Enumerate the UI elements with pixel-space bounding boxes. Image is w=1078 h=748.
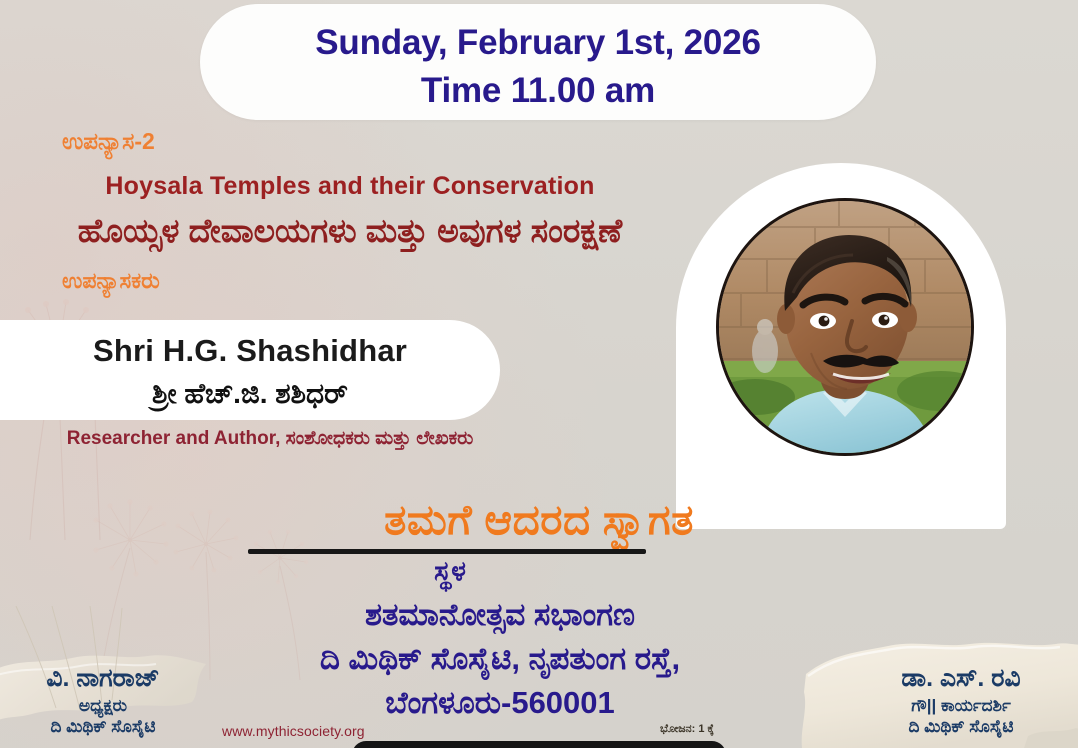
speaker-avatar (716, 198, 974, 456)
bottom-panel-edge (352, 741, 726, 748)
signatory-secretary-name: ಡಾ. ಎಸ್. ರವಿ (856, 664, 1066, 693)
event-time: Time 11.00 am (200, 62, 876, 110)
event-poster: Sunday, February 1st, 2026 Time 11.00 am… (0, 0, 1078, 748)
signatory-president: ವಿ. ನಾಗರಾಜ್ ಅಧ್ಯಕ್ಷರು ದಿ ಮಿಥಿಕ್ ಸೊಸೈಟಿ (0, 664, 206, 737)
signatory-president-role: ಅಧ್ಯಕ್ಷರು (0, 696, 206, 716)
venue-line-1: ಶತಮಾನೋತ್ಸವ ಸಭಾಂಗಣ (0, 597, 1000, 634)
date-time-banner: Sunday, February 1st, 2026 Time 11.00 am (200, 4, 876, 120)
lecture-title-english: Hoysala Temples and their Conservation (0, 172, 700, 201)
lecture-title-kannada: ಹೊಯ್ಸಳ ದೇವಾಲಯಗಳು ಮತ್ತು ಅವುಗಳ ಸಂರಕ್ಷಣೆ (0, 212, 700, 251)
lunch-note: ಭೋಜನ: 1 ಕ್ಕೆ (660, 723, 714, 736)
welcome-heading: ತಮಗೆ ಆದರದ ಸ್ವಾಗತ (0, 496, 1078, 545)
speaker-section-label: ಉಪನ್ಯಾಸಕರು (62, 268, 160, 294)
signatory-secretary-role: ಗೌ|| ಕಾರ್ಯದರ್ಶಿ (856, 696, 1066, 716)
signatory-president-org: ದಿ ಮಿಥಿಕ್ ಸೊಸೈಟಿ (0, 717, 206, 737)
signatory-president-name: ವಿ. ನಾಗರಾಜ್ (0, 664, 206, 693)
venue-label: ಸ್ಥಳ (0, 556, 900, 588)
lecture-number-label: ಉಪನ್ಯಾಸ-2 (62, 128, 155, 155)
signatory-secretary-org: ದಿ ಮಿಥಿಕ್ ಸೊಸೈಟಿ (856, 717, 1066, 737)
website-url[interactable]: www.mythicsociety.org (222, 723, 365, 739)
portrait-illustration (719, 201, 971, 453)
speaker-name-kannada: ಶ್ರೀ ಹೆಚ್.ಜಿ. ಶಶಿಧರ್ (0, 378, 500, 411)
speaker-designation: Researcher and Author, ಸಂಶೋಧಕರು ಮತ್ತು ಲೇ… (0, 428, 540, 450)
signatory-secretary: ಡಾ. ಎಸ್. ರವಿ ಗೌ|| ಕಾರ್ಯದರ್ಶಿ ದಿ ಮಿಥಿಕ್ ಸ… (856, 664, 1066, 737)
welcome-underline (248, 549, 646, 554)
event-date: Sunday, February 1st, 2026 (200, 4, 876, 62)
speaker-name-english: Shri H.G. Shashidhar (0, 333, 500, 369)
